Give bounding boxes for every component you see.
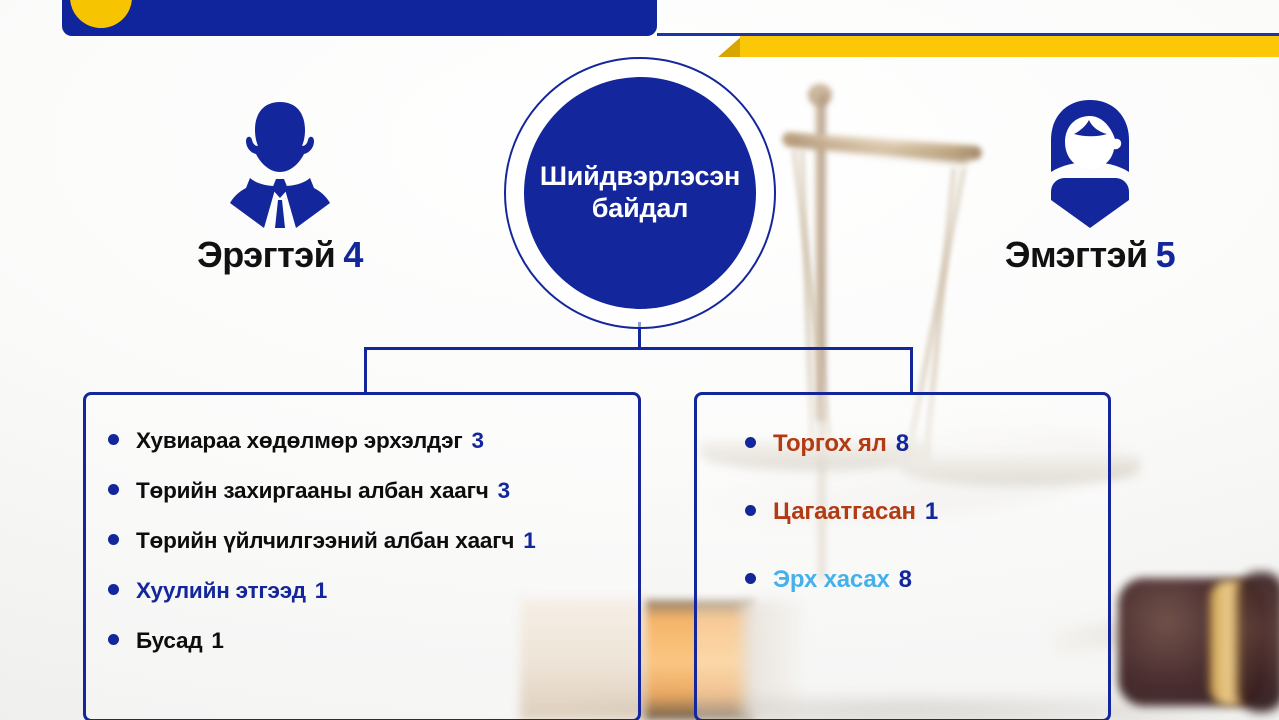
infographic-canvas: Эрэгтэй4 Эмэгтэй5 Шийдвэрлэсэн байдал [0, 0, 1279, 720]
gavel-cap [1238, 572, 1279, 712]
male-label-text: Эрэгтэй [197, 234, 335, 275]
list-item: Торгох ял 8 [745, 430, 1108, 458]
header-banner [62, 0, 657, 36]
bullet-icon [108, 484, 119, 495]
item-count: 3 [498, 478, 510, 504]
male-count: 4 [343, 234, 363, 275]
list-item: Хуулийн этгээд 1 [108, 578, 638, 604]
list-item: Төрийн үйлчилгээний албан хаагч 1 [108, 528, 638, 554]
header-rule [657, 33, 1279, 36]
male-stat-label: Эрэгтэй4 [120, 234, 440, 276]
item-label: Хувиараа хөдөлмөр эрхэлдэг [136, 428, 463, 454]
list-item: Төрийн захиргааны албан хаагч 3 [108, 478, 638, 504]
item-label: Төрийн үйлчилгээний албан хаагч [136, 528, 514, 554]
connector-horizontal [364, 347, 913, 350]
item-count: 1 [211, 628, 223, 654]
center-circle-core: Шийдвэрлэсэн байдал [524, 77, 756, 309]
bullet-icon [108, 534, 119, 545]
bullet-icon [108, 584, 119, 595]
accent-bar [740, 36, 1279, 57]
bullet-icon [745, 437, 756, 448]
female-person-icon [930, 78, 1250, 228]
item-label: Цагаатгасан [773, 498, 916, 526]
item-count: 1 [315, 578, 327, 604]
female-stat-block: Эмэгтэй5 [930, 78, 1250, 276]
bullet-icon [745, 505, 756, 516]
item-label: Торгох ял [773, 430, 887, 458]
item-count: 8 [899, 566, 912, 594]
item-label: Төрийн захиргааны албан хаагч [136, 478, 489, 504]
item-label: Эрх хасах [773, 566, 890, 594]
bullet-icon [108, 434, 119, 445]
item-count: 8 [896, 430, 909, 458]
center-title-line2: байдал [592, 193, 688, 223]
list-item: Цагаатгасан 1 [745, 498, 1108, 526]
center-circle: Шийдвэрлэсэн байдал [504, 57, 776, 329]
item-label: Бусад [136, 628, 202, 654]
list-item: Хувиараа хөдөлмөр эрхэлдэг 3 [108, 428, 638, 454]
female-stat-label: Эмэгтэй5 [930, 234, 1250, 276]
female-label-text: Эмэгтэй [1005, 234, 1148, 275]
connector-drop-right [910, 347, 913, 394]
center-title-line1: Шийдвэрлэсэн [540, 161, 740, 191]
mongolia-state-emblem-icon [70, 0, 132, 28]
sentence-list: Торгох ял 8 Цагаатгасан 1 Эрх хасах 8 [697, 395, 1108, 594]
male-stat-block: Эрэгтэй4 [120, 78, 440, 276]
connector-drop-left [364, 347, 367, 394]
item-count: 3 [472, 428, 484, 454]
list-item: Эрх хасах 8 [745, 566, 1108, 594]
list-item: Бусад 1 [108, 628, 638, 654]
item-label: Хуулийн этгээд [136, 578, 306, 604]
item-count: 1 [925, 498, 938, 526]
bullet-icon [108, 634, 119, 645]
center-circle-title: Шийдвэрлэсэн байдал [526, 161, 754, 225]
female-count: 5 [1156, 234, 1176, 275]
occupation-list: Хувиараа хөдөлмөр эрхэлдэг 3 Төрийн захи… [86, 395, 638, 654]
item-count: 1 [523, 528, 535, 554]
male-person-icon [120, 78, 440, 228]
sentence-box: Торгох ял 8 Цагаатгасан 1 Эрх хасах 8 [694, 392, 1111, 720]
bullet-icon [745, 573, 756, 584]
occupation-box: Хувиараа хөдөлмөр эрхэлдэг 3 Төрийн захи… [83, 392, 641, 720]
